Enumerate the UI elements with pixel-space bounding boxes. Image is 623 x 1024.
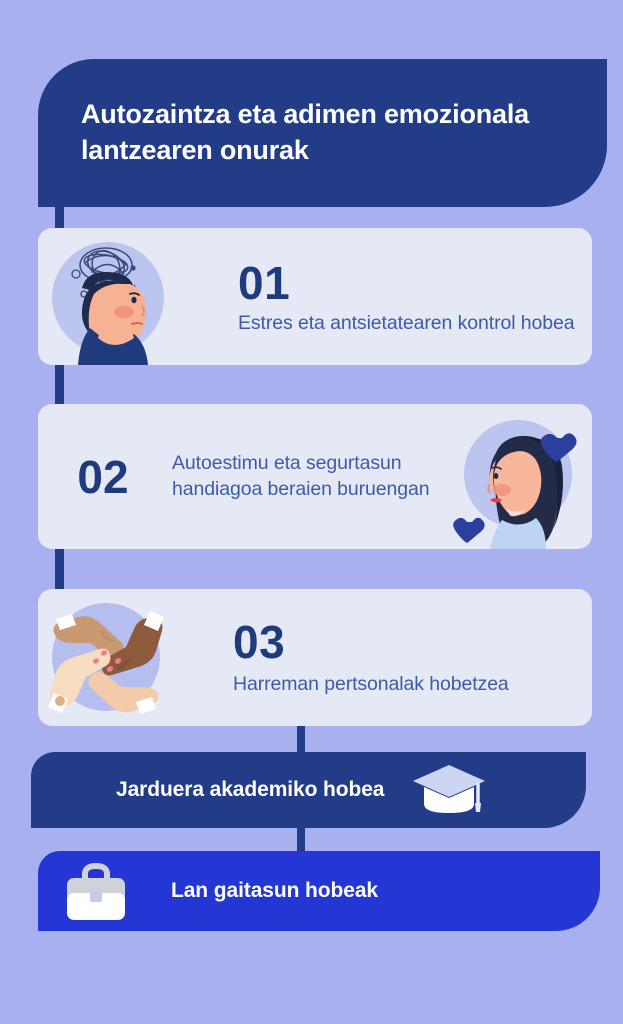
briefcase-icon [63, 860, 129, 922]
banner-work-label: Lan gaitasun hobeak [171, 879, 378, 903]
infographic-poster: Autozaintza eta adimen emozionala lantze… [0, 0, 623, 1024]
header-banner: Autozaintza eta adimen emozionala lantze… [38, 59, 607, 207]
card-02-description: Autoestimu eta segurtasun handiagoa bera… [172, 451, 450, 503]
benefit-card-01[interactable]: 01 Estres eta antsietatearen kontrol hob… [38, 228, 592, 365]
graduation-cap-icon [410, 759, 488, 821]
benefit-card-02[interactable]: 02 Autoestimu eta segurtasun handiagoa b… [38, 404, 592, 549]
four-joined-hands-illustration [38, 589, 175, 726]
card-03-number: 03 [233, 619, 592, 666]
banner-work-skills[interactable]: Lan gaitasun hobeak [38, 851, 600, 931]
card-01-description: Estres eta antsietatearen kontrol hobea [238, 311, 592, 337]
card-01-number: 01 [238, 260, 592, 307]
card-02-number: 02 [38, 450, 168, 504]
page-title: Autozaintza eta adimen emozionala lantze… [38, 97, 607, 169]
woman-profile-with-hearts-illustration [450, 404, 592, 549]
card-02-text-block: Autoestimu eta segurtasun handiagoa bera… [168, 451, 450, 503]
banner-academic-performance[interactable]: Jarduera akademiko hobea [31, 752, 586, 828]
card-03-text-block: 03 Harreman pertsonalak hobetzea [175, 617, 592, 698]
card-01-text-block: 01 Estres eta antsietatearen kontrol hob… [175, 256, 592, 337]
benefit-card-03[interactable]: 03 Harreman pertsonalak hobetzea [38, 589, 592, 726]
banner-academic-label: Jarduera akademiko hobea [116, 778, 384, 802]
card-03-description: Harreman pertsonalak hobetzea [233, 672, 592, 698]
man-profile-with-tangled-thoughts-illustration [38, 228, 175, 365]
